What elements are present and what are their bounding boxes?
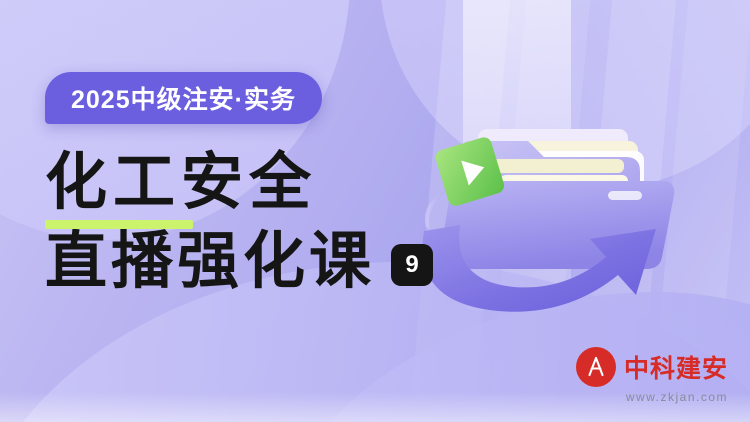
- title-line-2-row: 直播强化课 9: [45, 229, 433, 294]
- brand-logo: 中科建安 www.zkjan.com: [576, 347, 728, 404]
- brand-logo-row: 中科建安: [576, 347, 728, 387]
- brand-name: 中科建安: [624, 349, 728, 385]
- poster-canvas: 2025中级注安·实务 化工安全 直播强化课 9 中科建安 www.zkjan.…: [0, 0, 750, 422]
- title-underline: [45, 220, 193, 229]
- title-line-1-text: 化工安全: [45, 148, 317, 217]
- brand-mark-icon: [576, 347, 616, 387]
- folder-arrow-illustration: [396, 95, 726, 345]
- brand-url: www.zkjan.com: [626, 390, 728, 404]
- episode-number-badge: 9: [391, 244, 433, 286]
- title-block: 化工安全 直播强化课 9: [45, 150, 433, 294]
- title-line-2-text: 直播强化课: [45, 229, 375, 294]
- course-badge: 2025中级注安·实务: [45, 72, 322, 124]
- title-line-1: 化工安全: [45, 150, 433, 215]
